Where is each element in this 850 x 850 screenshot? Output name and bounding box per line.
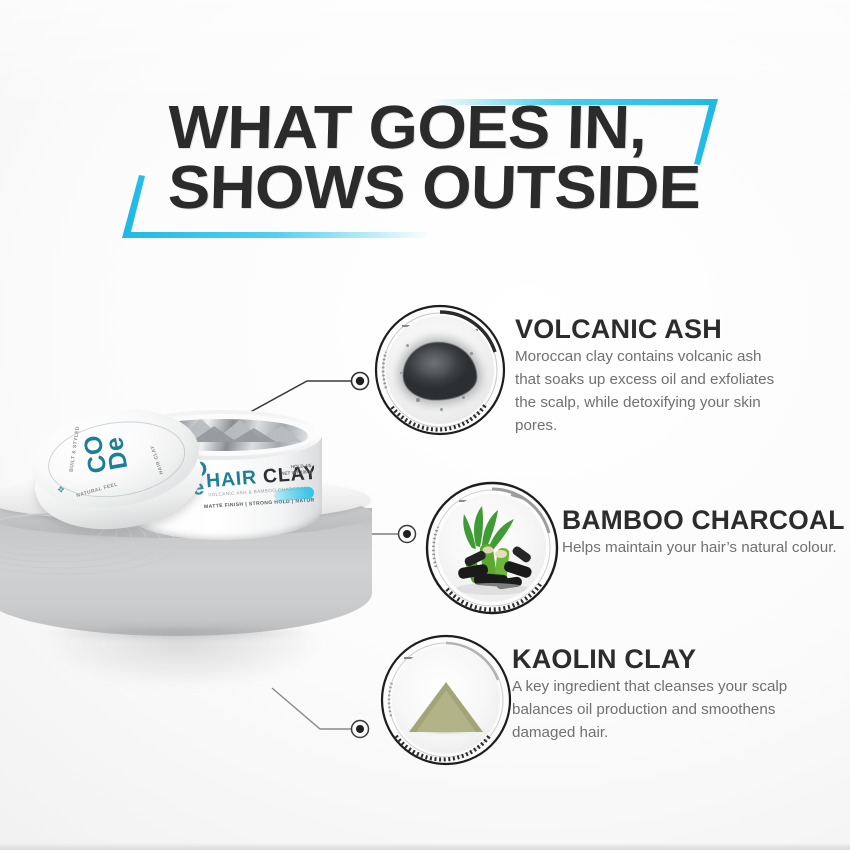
- callout-description: Moroccan clay contains volcanic ash that…: [515, 345, 790, 437]
- bottom-edge-strip: [0, 843, 850, 850]
- callout-text-kaolin-clay: KAOLIN CLAY A key ingredient that cleans…: [512, 644, 792, 744]
- kaolin-clay-powder-photo: [392, 646, 500, 754]
- callout-title: VOLCANIC ASH: [515, 314, 790, 345]
- pedestal-ground-shadow: [0, 624, 364, 646]
- ash-speck: [470, 352, 473, 355]
- ash-speck: [400, 372, 402, 374]
- headline-line-2: SHOWS OUTSIDE: [167, 158, 834, 218]
- ash-speck: [406, 344, 409, 347]
- product-photo-group: CO De WILD STYLE HAIR CLAY VOLCANIC ASH …: [0, 392, 402, 752]
- callout-title: KAOLIN CLAY: [512, 644, 792, 675]
- bamboo-charcoal-photo: [438, 494, 546, 602]
- headline-line-1: WHAT GOES IN,: [167, 98, 834, 158]
- ash-mound-shape: [403, 342, 477, 400]
- infographic-canvas: WHAT GOES IN, SHOWS OUTSIDE: [0, 0, 850, 850]
- ash-speck: [440, 408, 443, 411]
- ash-speck: [462, 396, 465, 399]
- callout-text-bamboo-charcoal: BAMBOO CHARCOAL Helps maintain your hair…: [562, 505, 850, 559]
- ingredient-badge-bamboo-charcoal[interactable]: [425, 481, 559, 615]
- ash-speck: [416, 398, 420, 402]
- headline-block: WHAT GOES IN, SHOWS OUTSIDE: [0, 72, 850, 252]
- callout-title: BAMBOO CHARCOAL: [562, 505, 850, 536]
- product-lid: CO De BUILT & STYLED HAIR CLAY NATURAL F…: [25, 391, 216, 561]
- page-title: WHAT GOES IN, SHOWS OUTSIDE: [168, 98, 808, 218]
- clay-mound-highlight: [416, 690, 476, 732]
- volcanic-ash-powder-photo: [386, 316, 494, 424]
- jar-side-info: HOLD 4/5 NET WT 100 g: [281, 463, 312, 477]
- ingredient-badge-volcanic-ash[interactable]: [374, 304, 506, 436]
- callout-description: Helps maintain your hair’s natural colou…: [562, 536, 850, 559]
- callout-description: A key ingredient that cleanses your scal…: [512, 675, 792, 744]
- callout-text-volcanic-ash: VOLCANIC ASH Moroccan clay contains volc…: [515, 314, 790, 437]
- lid-brand-logo: CO De: [82, 430, 129, 475]
- ingredient-badge-kaolin-clay[interactable]: [380, 634, 512, 766]
- lid-seal-badge-icon: ❖: [54, 474, 72, 494]
- bamboo-charcoal-illustration: [438, 494, 546, 602]
